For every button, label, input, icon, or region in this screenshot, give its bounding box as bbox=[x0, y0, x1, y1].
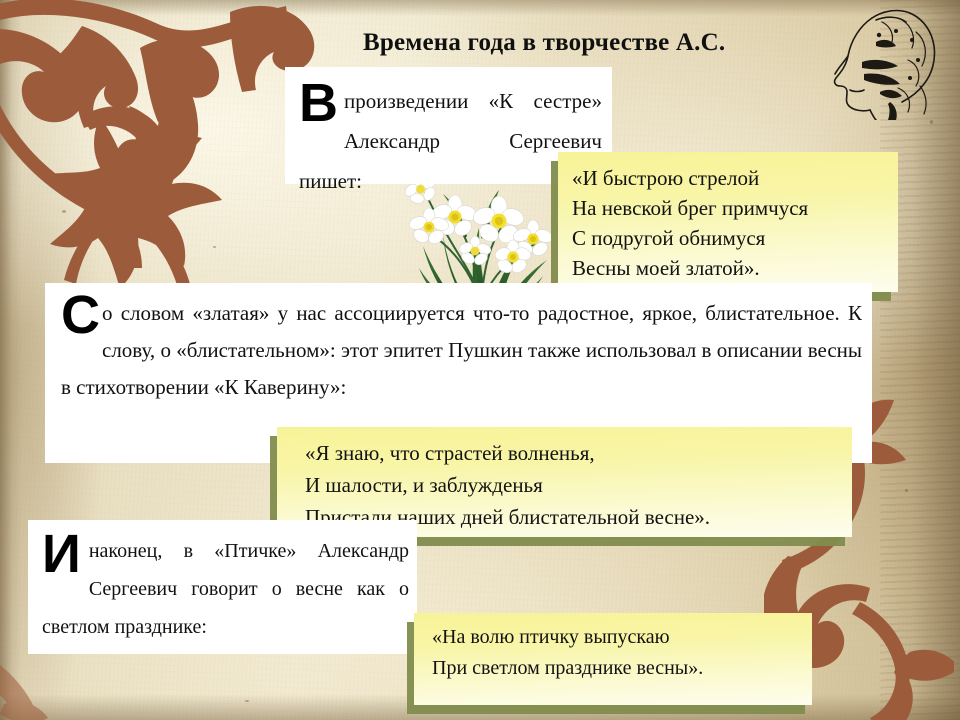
parchment-left-edge bbox=[0, 0, 22, 720]
parchment-speck bbox=[930, 120, 933, 124]
paragraph-1: Впроизведении «К сестре» Александр Серге… bbox=[299, 81, 602, 201]
slide-canvas: Времена года в творчестве А.С. Впроизвед… bbox=[0, 0, 960, 720]
parchment-top-edge bbox=[0, 0, 960, 16]
quote-card-k-sestre: «И быстрою стрелой На невской брег примч… bbox=[558, 152, 898, 292]
quote-card-ptichka: «На волю птичку выпускаю При светлом пра… bbox=[414, 613, 812, 705]
parchment-speck bbox=[245, 700, 249, 702]
slide-title: Времена года в творчестве А.С. bbox=[363, 27, 833, 59]
paragraph-3: Инаконец, в «Птичке» Александр Сергеевич… bbox=[42, 532, 409, 646]
dropcap-s: С bbox=[61, 295, 100, 335]
paragraph-2-text: о словом «златая» у нас ассоциируется чт… bbox=[61, 301, 862, 399]
parchment-speck bbox=[129, 82, 132, 85]
parchment-speck bbox=[905, 489, 908, 492]
dropcap-v: В bbox=[299, 83, 338, 123]
dropcap-i: И bbox=[42, 534, 81, 574]
text-panel-ptichka: Инаконец, в «Птичке» Александр Сергеевич… bbox=[28, 520, 417, 654]
quote-text-ptichka: «На волю птичку выпускаю При светлом пра… bbox=[432, 622, 804, 684]
parchment-speck bbox=[213, 246, 216, 248]
quote-text-k-kaverinu: «Я знаю, что страстей волненья, И шалост… bbox=[305, 437, 844, 533]
paragraph-1-text: произведении «К сестре» Александр Сергее… bbox=[299, 89, 602, 193]
pushkin-profile-sketch-icon bbox=[824, 2, 950, 120]
paragraph-3-text: наконец, в «Птичке» Александр Сергеевич … bbox=[42, 540, 409, 638]
quote-text-k-sestre: «И быстрою стрелой На невской брег примч… bbox=[572, 163, 890, 283]
paragraph-2: Со словом «златая» у нас ассоциируется ч… bbox=[61, 295, 862, 406]
parchment-speck bbox=[62, 210, 66, 213]
